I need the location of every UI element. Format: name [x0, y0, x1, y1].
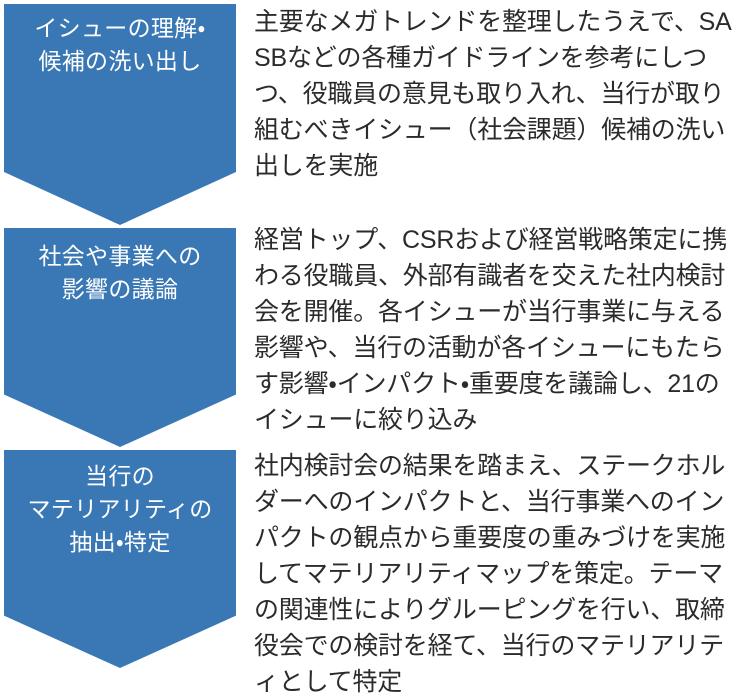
process-step-3: 当行の マテリアリティの 抽出・特定 社内検討会の結果を踏まえ、ステークホルダー… [0, 450, 740, 668]
process-step-1: イシューの理解・ 候補の洗い出し 主要なメガトレンドを整理したうえで、SASBな… [0, 4, 740, 225]
process-step-2: 社会や事業への 影響の議論 経営トップ、CSRおよび経営戦略策定に携わる役職員、… [0, 228, 740, 447]
process-flow-diagram: イシューの理解・ 候補の洗い出し 主要なメガトレンドを整理したうえで、SASBな… [0, 0, 740, 677]
step-1-label: イシューの理解・ 候補の洗い出し [4, 12, 236, 78]
step-2-chevron-shape: 社会や事業への 影響の議論 [4, 228, 236, 447]
step-3-description: 社内検討会の結果を踏まえ、ステークホルダーへのインパクトと、当行事業へのインパク… [254, 448, 732, 700]
step-2-label: 社会や事業への 影響の議論 [4, 240, 236, 306]
step-2-description: 経営トップ、CSRおよび経営戦略策定に携わる役職員、外部有識者を交えた社内検討会… [254, 222, 732, 438]
step-3-chevron-shape: 当行の マテリアリティの 抽出・特定 [4, 450, 236, 668]
step-1-description: 主要なメガトレンドを整理したうえで、SASBなどの各種ガイドラインを参考にしつつ… [254, 4, 732, 184]
step-1-chevron-shape: イシューの理解・ 候補の洗い出し [4, 4, 236, 225]
step-3-label: 当行の マテリアリティの 抽出・特定 [4, 460, 236, 559]
